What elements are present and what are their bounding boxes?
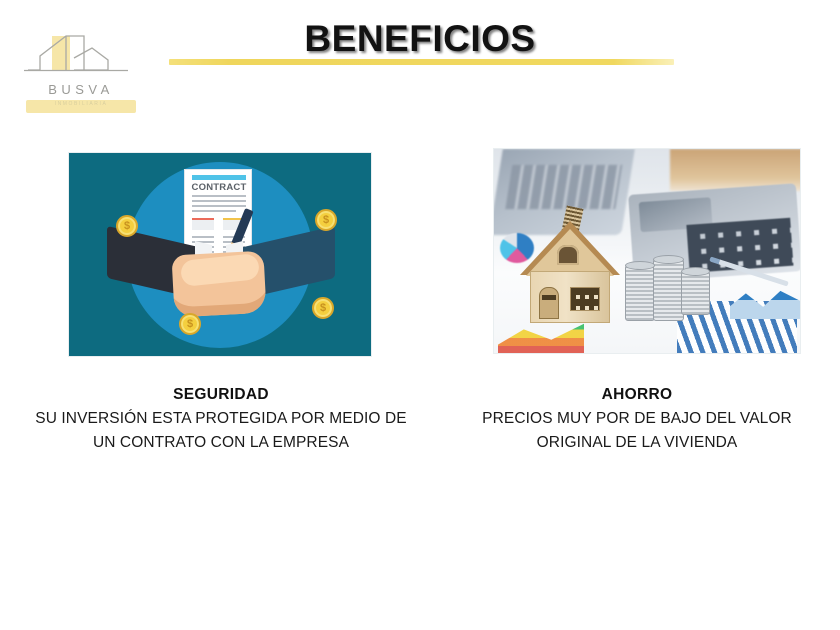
dollar-coin-icon [315,209,337,231]
slide-canvas: BUSVA INMOBILIARIA BENEFICIOS CONTRACT [0,0,840,630]
model-house-icon [520,207,620,323]
title-underline-rule [169,59,674,65]
calculator-keys [686,218,793,273]
caption-title: AHORRO [458,386,816,404]
page-title: BENEFICIOS [0,18,840,60]
caption-seguridad: SEGURIDAD SU INVERSIÓN ESTA PROTEGIDA PO… [32,386,410,454]
handshake-contract-illustration: CONTRACT [68,152,372,357]
house-window [570,287,600,311]
contract-top-bar [192,175,246,180]
logo-wordmark: BUSVA [22,82,140,97]
coin-stack [625,265,655,321]
house-door-slot [542,295,556,300]
benefit-card-ahorro [493,148,801,354]
logo-subtitle: INMOBILIARIA [26,101,136,107]
benefit-card-seguridad: CONTRACT [68,152,372,357]
caption-body: SU INVERSIÓN ESTA PROTEGIDA POR MEDIO DE… [32,407,410,454]
coin-stack [681,271,710,315]
caption-title: SEGURIDAD [32,386,410,404]
coin-stack-top [681,267,710,276]
caption-body: PRECIOS MUY POR DE BAJO DEL VALOR ORIGIN… [458,407,816,454]
coin-stack-top [653,255,684,264]
laptop-keyboard [505,165,622,209]
coin-stack-top [625,261,655,270]
contract-heading: CONTRACT [185,182,253,193]
model-house-coins-calculator-photo [493,148,801,354]
coin-stack [653,259,684,321]
dollar-coin-icon [312,297,334,319]
house-door [539,287,559,319]
dollar-coin-icon [116,215,138,237]
dollar-coin-icon [179,313,201,335]
house-attic-window [557,245,579,265]
caption-ahorro: AHORRO PRECIOS MUY POR DE BAJO DEL VALOR… [458,386,816,454]
